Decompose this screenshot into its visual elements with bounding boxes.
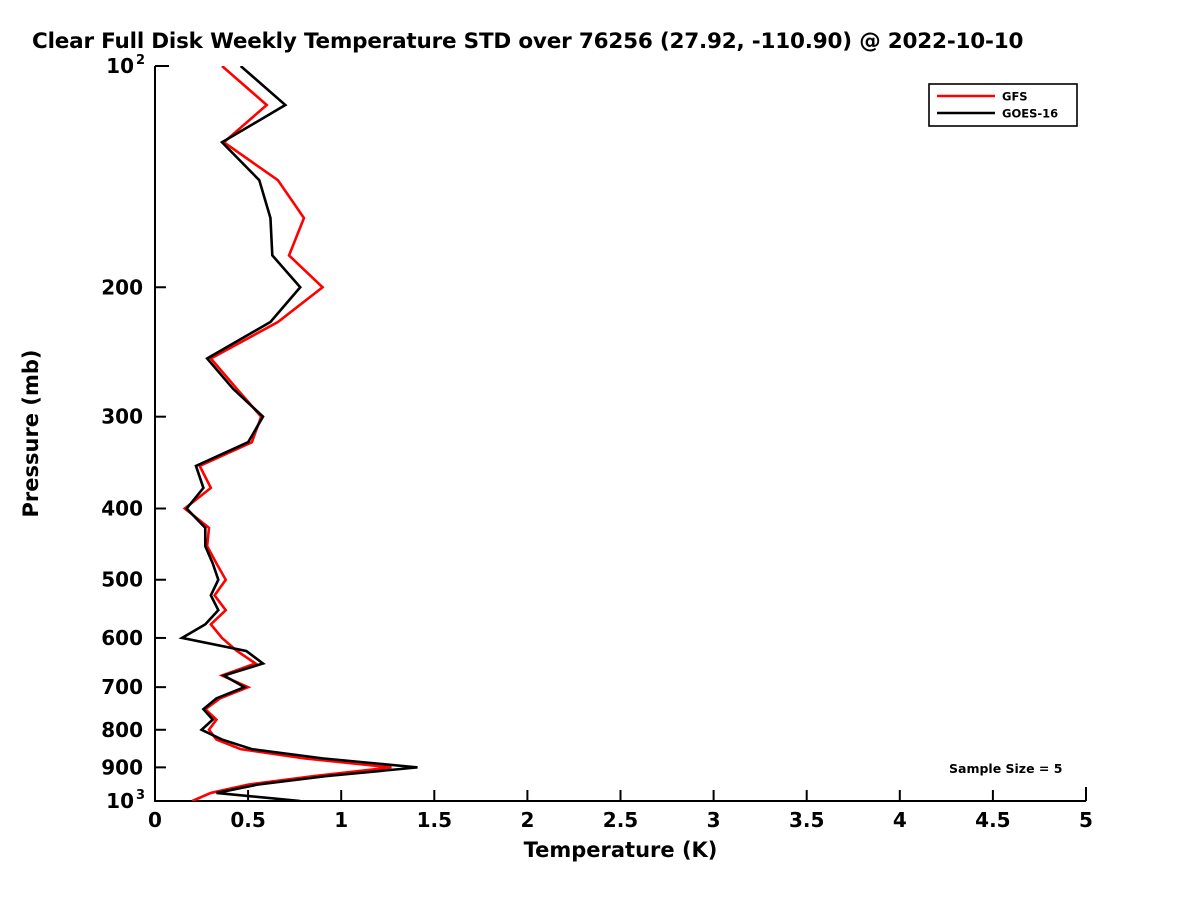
x-tick-label: 2 — [520, 808, 534, 832]
data-series-group — [182, 66, 418, 801]
y-tick-label: 800 — [101, 718, 143, 742]
x-tick-label: 4 — [893, 808, 907, 832]
annotation-group: Sample Size = 5 — [949, 761, 1062, 776]
y-tick-label: 600 — [101, 626, 143, 650]
y-tick-label: 900 — [101, 755, 143, 779]
x-tick-label: 1 — [334, 808, 348, 832]
x-tick-label: 0 — [148, 808, 162, 832]
x-tick-label: 0.5 — [230, 808, 265, 832]
y-tick-label: 500 — [101, 568, 143, 592]
y-tick-label: 200 — [101, 275, 143, 299]
plot-area: 00.511.522.533.544.55 102200300400500600… — [0, 0, 1200, 900]
x-tick-label: 4.5 — [975, 808, 1010, 832]
x-axis-ticks: 00.511.522.533.544.55 — [148, 790, 1093, 832]
legend: GFSGOES-16 — [929, 84, 1077, 126]
series-line-goes-16 — [182, 66, 418, 801]
y-tick-label-exponent: 3 — [136, 788, 145, 803]
x-tick-label: 3.5 — [789, 808, 824, 832]
x-tick-label: 5 — [1079, 808, 1093, 832]
y-tick-label: 10 — [106, 789, 134, 813]
series-line-gfs — [185, 66, 392, 801]
x-tick-label: 3 — [707, 808, 721, 832]
legend-label-goes-16: GOES-16 — [1002, 107, 1058, 121]
y-axis-ticks: 102200300400500600700800900103 — [101, 53, 166, 813]
y-tick-label: 10 — [106, 54, 134, 78]
y-tick-label: 300 — [101, 405, 143, 429]
chart-figure: Clear Full Disk Weekly Temperature STD o… — [0, 0, 1200, 900]
x-axis-label: Temperature (K) — [524, 838, 718, 862]
y-tick-label: 700 — [101, 675, 143, 699]
y-axis-label: Pressure (mb) — [19, 350, 43, 518]
x-tick-label: 2.5 — [603, 808, 638, 832]
axis-frame — [155, 66, 1086, 801]
y-tick-label: 400 — [101, 497, 143, 521]
x-tick-label: 1.5 — [417, 808, 452, 832]
legend-label-gfs: GFS — [1002, 90, 1028, 104]
sample-size-annotation: Sample Size = 5 — [949, 761, 1062, 776]
y-tick-label-exponent: 2 — [136, 53, 145, 68]
